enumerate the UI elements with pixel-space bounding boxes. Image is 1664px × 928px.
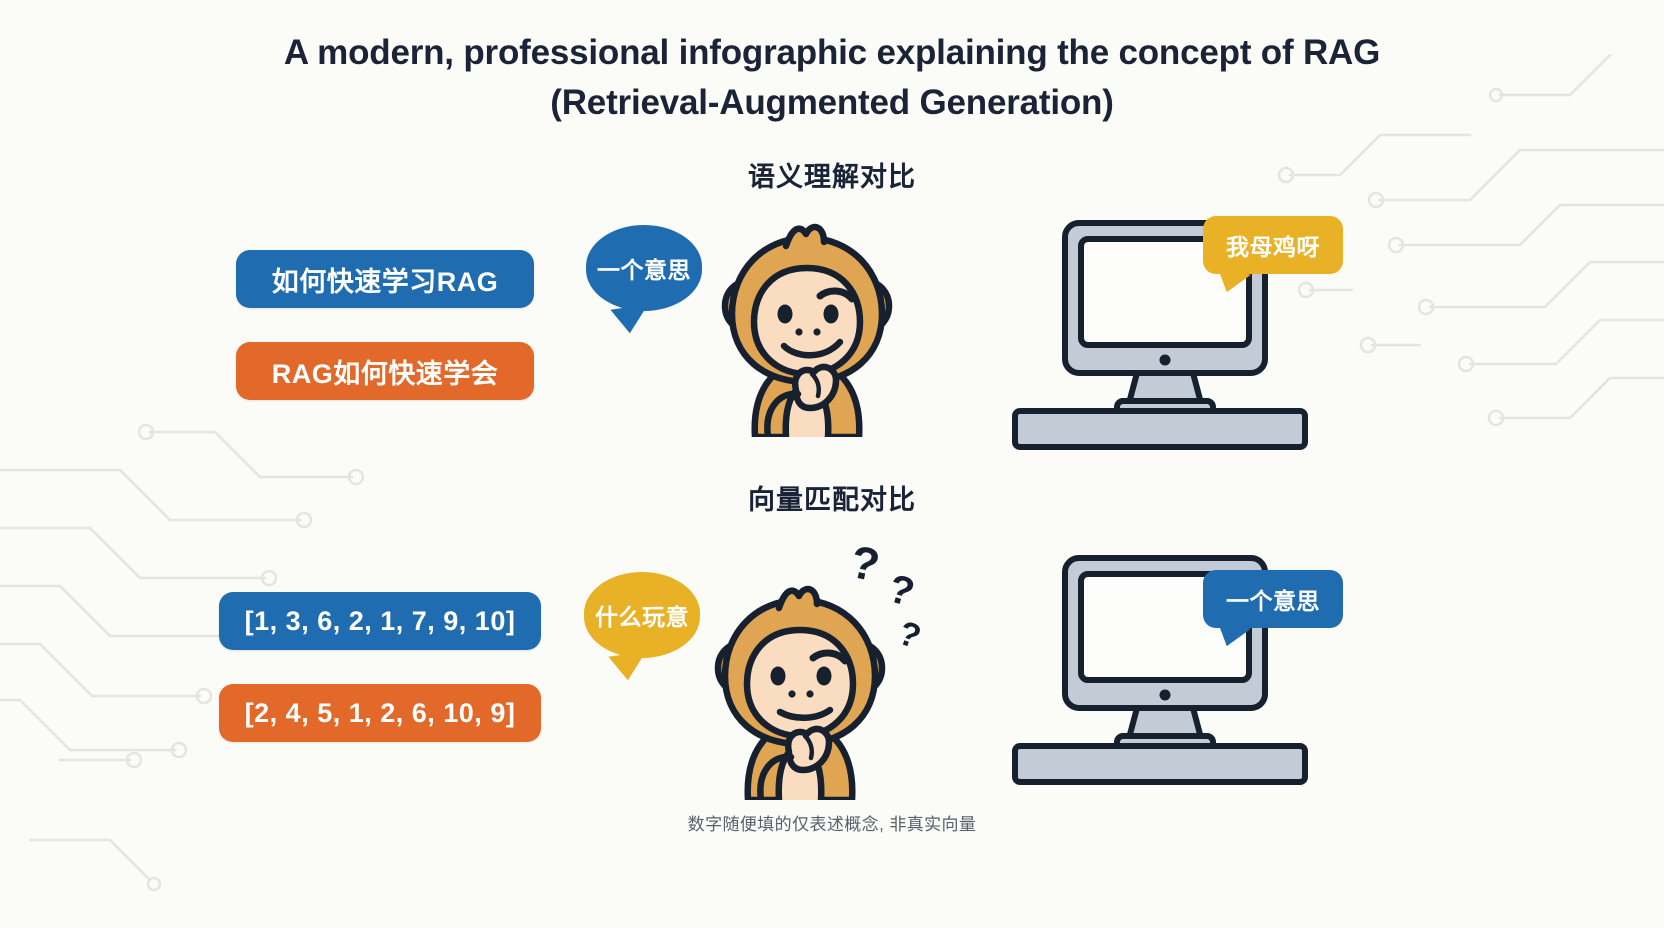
monkey-thinking-icon	[700, 222, 915, 437]
section-header-semantic: 语义理解对比	[0, 155, 1664, 194]
section-header-vector: 向量匹配对比	[0, 478, 1664, 517]
query-pill-orange: RAG如何快速学会	[236, 342, 534, 400]
infographic-canvas: A modern, professional infographic expla…	[0, 0, 1664, 928]
speech-bubble-computer-vector: 一个意思	[1203, 570, 1343, 628]
speech-bubble-computer-semantic-text: 我母鸡呀	[1226, 228, 1320, 262]
speech-bubble-computer-semantic: 我母鸡呀	[1203, 216, 1343, 274]
svg-text:?: ?	[893, 614, 926, 657]
speech-bubble-monkey-vector: 什么玩意	[584, 572, 700, 658]
speech-bubble-computer-vector-text: 一个意思	[1226, 582, 1320, 616]
speech-bubble-monkey-semantic: 一个意思	[586, 225, 702, 311]
speech-bubble-tail	[608, 651, 649, 682]
svg-text:?: ?	[846, 535, 884, 592]
speech-bubble-monkey-vector-text: 什么玩意	[595, 598, 689, 632]
query-pill-blue: 如何快速学习RAG	[236, 250, 534, 308]
monkey-confused-icon: ? ? ?	[700, 530, 960, 800]
vector-pill-blue: [1, 3, 6, 2, 1, 7, 9, 10]	[219, 592, 541, 650]
vector-pill-orange: [2, 4, 5, 1, 2, 6, 10, 9]	[219, 684, 541, 742]
svg-text:?: ?	[884, 566, 920, 615]
footnote-text: 数字随便填的仅表述概念, 非真实向量	[0, 810, 1664, 835]
page-title-line-2: (Retrieval-Augmented Generation)	[0, 78, 1664, 128]
page-title-line-1: A modern, professional infographic expla…	[0, 28, 1664, 78]
page-title: A modern, professional infographic expla…	[0, 28, 1664, 127]
speech-bubble-tail	[610, 304, 651, 335]
speech-bubble-monkey-semantic-text: 一个意思	[597, 251, 691, 285]
